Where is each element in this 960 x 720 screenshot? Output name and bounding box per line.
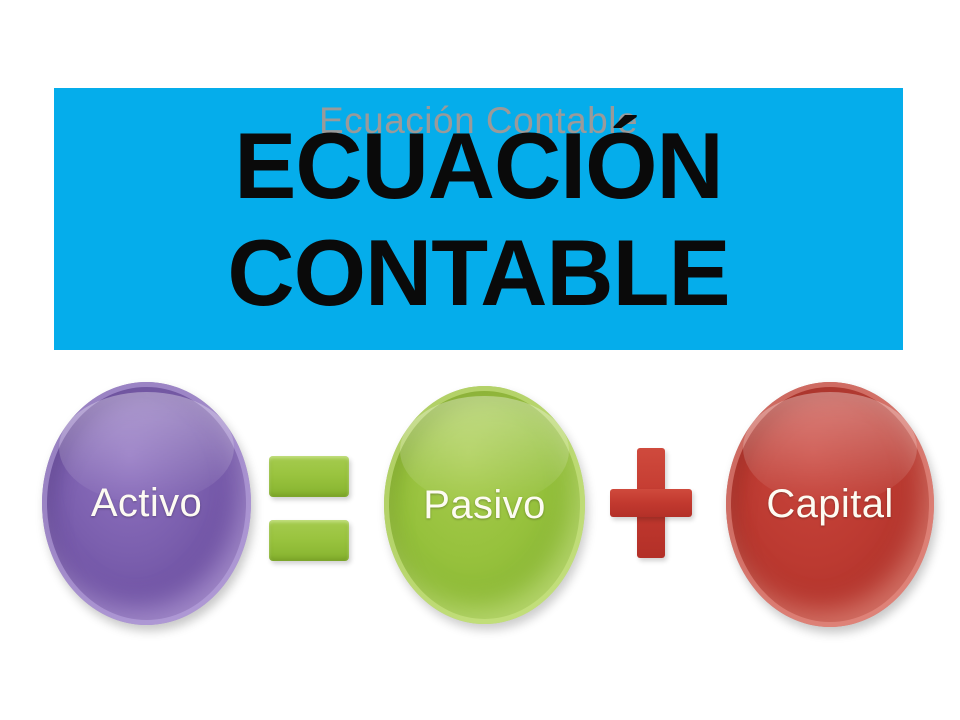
equation-term-activo: Activo [42, 382, 251, 625]
slide-canvas: Ecuación Contable ECUACIÓN CONTABLE Acti… [0, 0, 960, 720]
page-title-line-1: ECUACIÓN [58, 112, 899, 219]
equation-term-pasivo: Pasivo [384, 386, 585, 624]
equals-bar-bottom [269, 520, 349, 561]
equals-bar-top [269, 456, 349, 497]
plus-arm-horizontal [610, 489, 692, 517]
equation-term-capital-label: Capital [766, 482, 893, 527]
page-title: ECUACIÓN CONTABLE [54, 112, 903, 326]
page-title-line-2: CONTABLE [58, 219, 899, 326]
equals-operator-icon [269, 456, 349, 562]
equation-term-pasivo-label: Pasivo [423, 483, 545, 528]
equation-term-activo-label: Activo [91, 481, 202, 526]
plus-operator-icon [610, 448, 692, 558]
equation-term-capital: Capital [726, 382, 934, 627]
accounting-equation-diagram: Activo Pasivo Capital [0, 360, 960, 660]
title-banner: Ecuación Contable ECUACIÓN CONTABLE [54, 88, 903, 350]
